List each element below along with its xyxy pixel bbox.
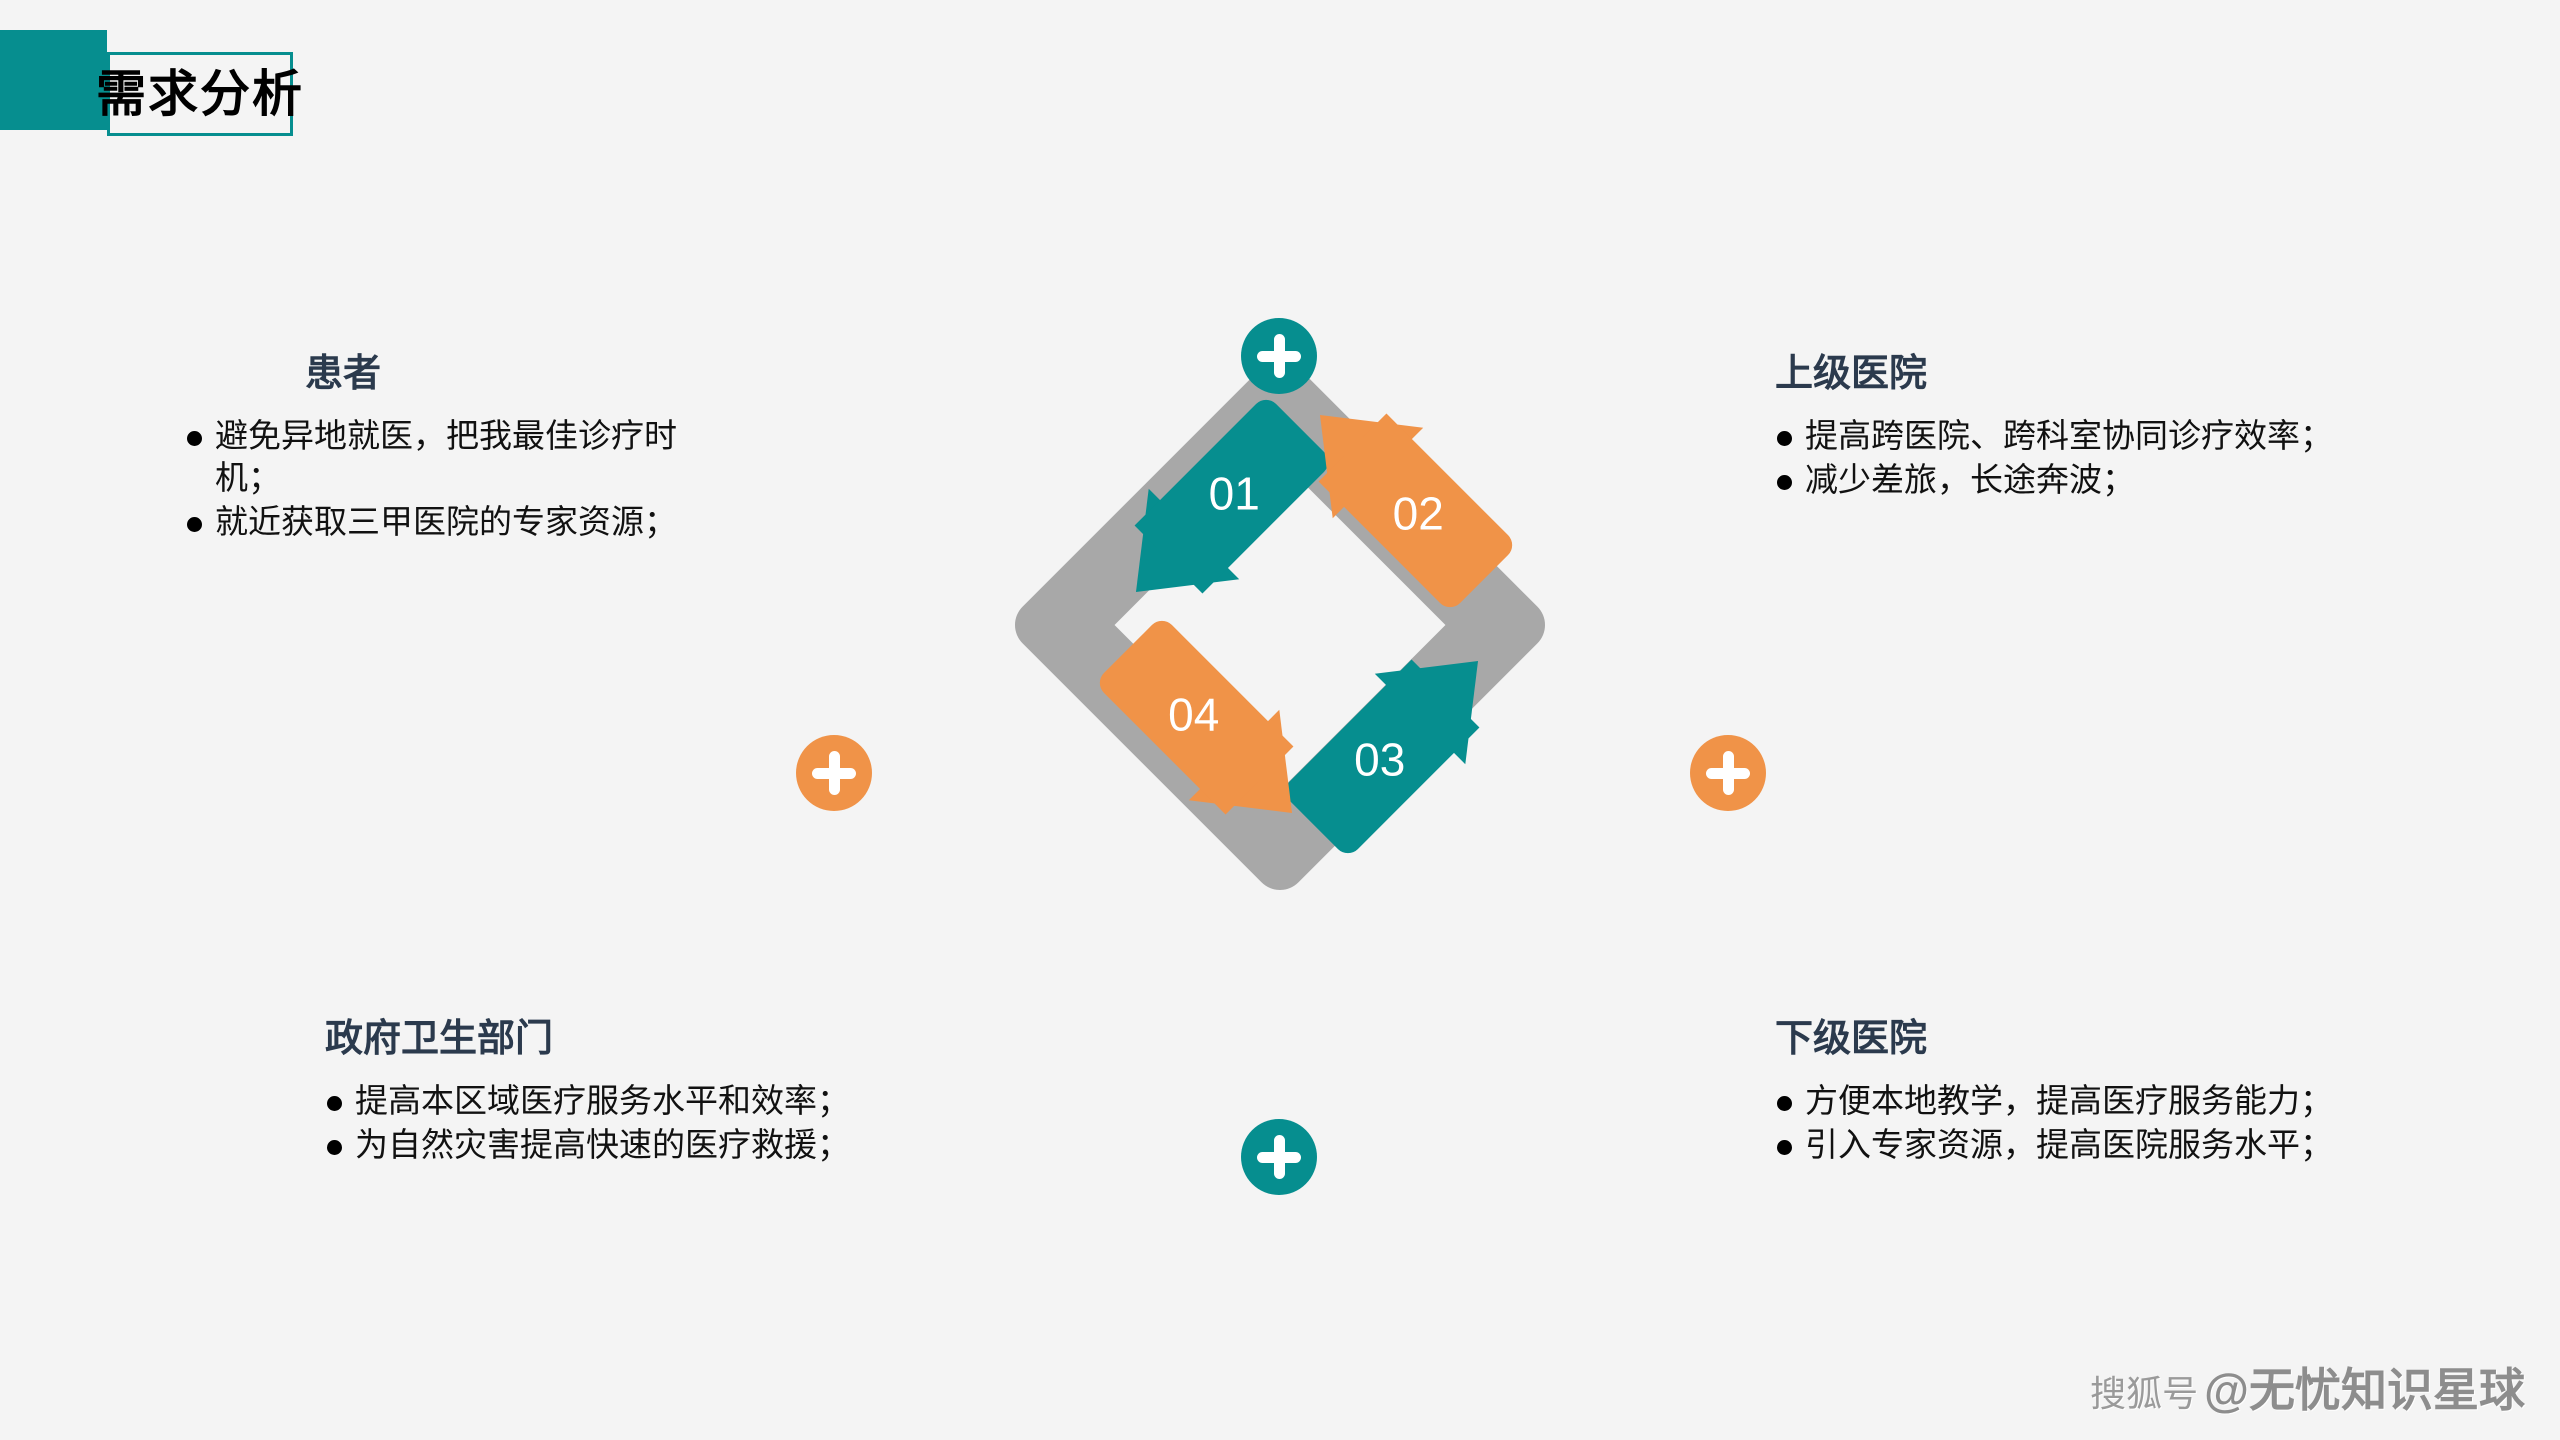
quadrant-lower-hospital-heading: 下级医院: [1775, 1020, 2345, 1058]
list-item: 就近获取三甲医院的专家资源；: [185, 501, 705, 543]
cycle-step-number: 02: [1325, 465, 1511, 561]
plus-icon-left[interactable]: [796, 735, 872, 811]
plus-icon: [1723, 751, 1734, 795]
quadrant-patient: 患者 避免异地就医，把我最佳诊疗时机； 就近获取三甲医院的专家资源；: [185, 355, 705, 546]
plus-icon: [829, 751, 840, 795]
cycle-diagram: 01 02 03 04: [955, 300, 1605, 950]
slide-canvas: 需求分析 患者 避免异地就医，把我最佳诊疗时机； 就近获取三甲医院的专家资源； …: [0, 0, 2560, 1440]
list-item: 提高本区域医疗服务水平和效率；: [325, 1080, 855, 1122]
list-item: 避免异地就医，把我最佳诊疗时机；: [185, 415, 705, 499]
plus-icon-right[interactable]: [1690, 735, 1766, 811]
quadrant-upper-hospital: 上级医院 提高跨医院、跨科室协同诊疗效率； 减少差旅，长途奔波；: [1775, 355, 2335, 503]
list-item: 提高跨医院、跨科室协同诊疗效率；: [1775, 415, 2335, 457]
quadrant-upper-hospital-heading: 上级医院: [1775, 355, 2335, 393]
plus-icon-top[interactable]: [1241, 318, 1317, 394]
page-title-frame: 需求分析: [107, 52, 293, 136]
list-item: 方便本地教学，提高医疗服务能力；: [1775, 1080, 2345, 1122]
quadrant-government-bullets: 提高本区域医疗服务水平和效率； 为自然灾害提高快速的医疗救援；: [325, 1080, 855, 1166]
quadrant-lower-hospital-bullets: 方便本地教学，提高医疗服务能力； 引入专家资源，提高医院服务水平；: [1775, 1080, 2345, 1166]
plus-icon: [1274, 334, 1285, 378]
title-accent-block: [0, 30, 107, 130]
plus-icon-bottom[interactable]: [1241, 1119, 1317, 1195]
watermark-prefix: 搜狐号: [2090, 1365, 2198, 1417]
list-item: 引入专家资源，提高医院服务水平；: [1775, 1124, 2345, 1166]
watermark: 搜狐号 @无忧知识星球: [2090, 1354, 2525, 1420]
page-title: 需求分析: [96, 69, 304, 119]
list-item: 减少差旅，长途奔波；: [1775, 459, 2335, 501]
watermark-handle: @无忧知识星球: [2204, 1354, 2525, 1420]
quadrant-government: 政府卫生部门 提高本区域医疗服务水平和效率； 为自然灾害提高快速的医疗救援；: [325, 1020, 855, 1168]
quadrant-patient-bullets: 避免异地就医，把我最佳诊疗时机； 就近获取三甲医院的专家资源；: [185, 415, 705, 544]
quadrant-lower-hospital: 下级医院 方便本地教学，提高医疗服务能力； 引入专家资源，提高医院服务水平；: [1775, 1020, 2345, 1168]
quadrant-upper-hospital-bullets: 提高跨医院、跨科室协同诊疗效率； 减少差旅，长途奔波；: [1775, 415, 2335, 501]
list-item: 为自然灾害提高快速的医疗救援；: [325, 1124, 855, 1166]
plus-icon: [1274, 1135, 1285, 1179]
quadrant-government-heading: 政府卫生部门: [325, 1020, 855, 1058]
cycle-step-number: 04: [1101, 667, 1287, 763]
quadrant-patient-heading: 患者: [305, 355, 705, 393]
